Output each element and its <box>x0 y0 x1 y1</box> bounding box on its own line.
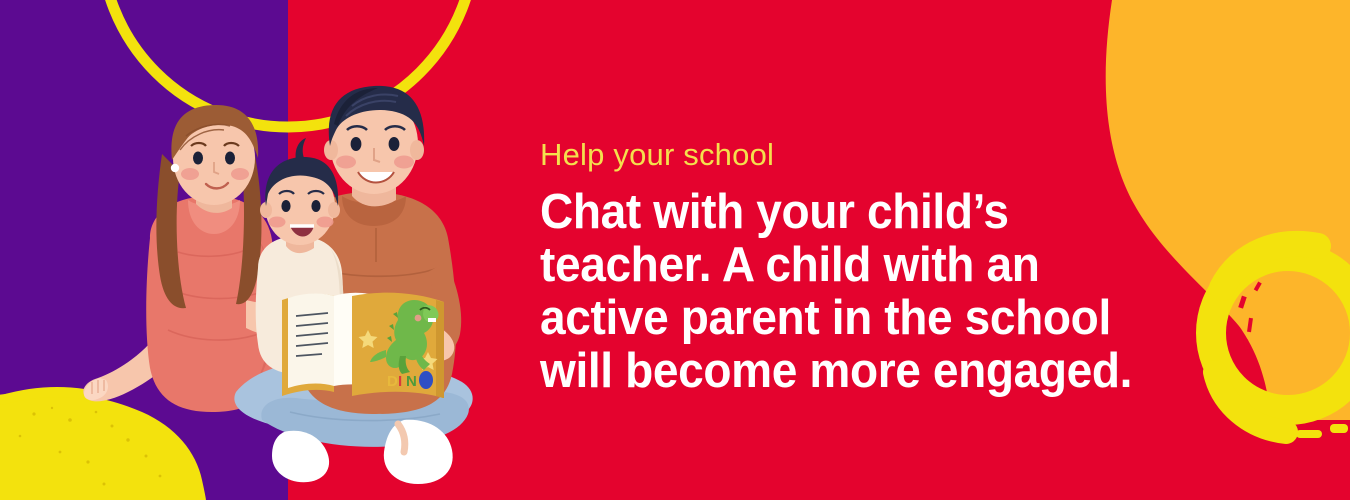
headline: Chat with your child’s teacher. A child … <box>540 186 1198 398</box>
yellow-circle-outline-decor <box>101 0 475 127</box>
eyebrow-text: Help your school <box>540 138 1240 172</box>
promo-banner: D I N Help your school Chat with your ch… <box>0 0 1350 500</box>
headline-line-2: teacher. A child with an <box>540 239 1198 292</box>
headline-line-1: Chat with your child’s <box>540 186 1198 239</box>
banner-text-block: Help your school Chat with your child’s … <box>540 138 1240 398</box>
yellow-brush-blob-decor <box>0 392 206 500</box>
headline-line-3: active parent in the school <box>540 292 1198 345</box>
headline-line-4: will become more engaged. <box>540 345 1198 398</box>
